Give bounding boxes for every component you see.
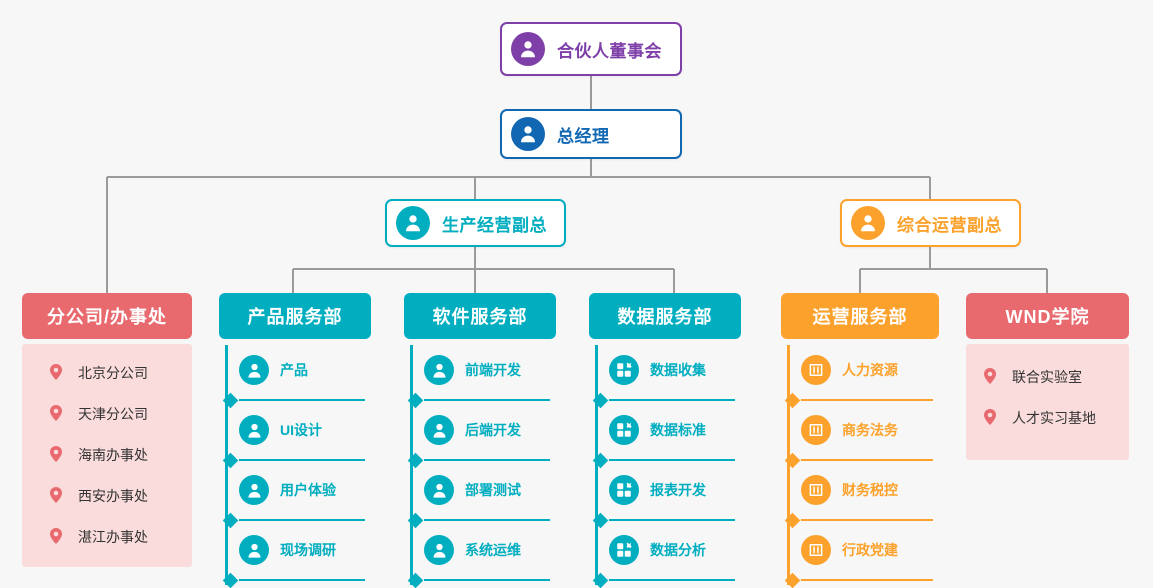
list-item[interactable]: 后端开发: [418, 405, 556, 455]
list-item-label: 商务法务: [842, 420, 898, 440]
map-pin-icon: [48, 446, 64, 464]
exec-node-board[interactable]: 合伙人董事会: [500, 22, 682, 76]
department-title[interactable]: 产品服务部: [219, 293, 371, 339]
person-icon: [239, 475, 269, 505]
org-chart: 合伙人董事会 总经理 生产经营副总 综合运营副总 分公: [0, 0, 1153, 587]
item-divider: [787, 575, 939, 585]
item-divider: [225, 515, 371, 525]
list-item[interactable]: 联合实验室: [966, 356, 1129, 397]
list-item[interactable]: 北京分公司: [22, 352, 192, 393]
bank-icon: [801, 355, 831, 385]
bank-icon: [801, 415, 831, 445]
person-icon: [424, 415, 454, 445]
list-item-label: 系统运维: [465, 540, 521, 560]
item-divider: [595, 515, 741, 525]
list-item[interactable]: 数据分析: [603, 525, 741, 575]
list-item[interactable]: 数据收集: [603, 345, 741, 395]
item-divider: [787, 395, 939, 405]
list-item-label: 行政党建: [842, 540, 898, 560]
list-item-label: 数据收集: [650, 360, 706, 380]
list-item-label: 前端开发: [465, 360, 521, 380]
department-item-list: 联合实验室 人才实习基地: [966, 344, 1129, 460]
department-product: 产品服务部 产品 UI设计: [219, 293, 371, 585]
list-item[interactable]: 数据标准: [603, 405, 741, 455]
department-title[interactable]: 运营服务部: [781, 293, 939, 339]
person-icon: [511, 32, 545, 66]
department-item-list: 北京分公司 天津分公司 海南办事处: [22, 344, 192, 567]
item-divider: [595, 395, 741, 405]
map-pin-icon: [48, 364, 64, 382]
list-item-label: 人力资源: [842, 360, 898, 380]
list-item-label: UI设计: [280, 420, 322, 440]
department-item-list: 人力资源 商务法务: [781, 345, 939, 585]
person-icon: [239, 355, 269, 385]
list-item-label: 部署测试: [465, 480, 521, 500]
grid-icon: [609, 355, 639, 385]
department-item-list: 数据收集 数据标准: [589, 345, 741, 585]
list-item[interactable]: 行政党建: [795, 525, 939, 575]
map-pin-icon: [48, 487, 64, 505]
list-item[interactable]: 人力资源: [795, 345, 939, 395]
item-divider: [225, 455, 371, 465]
list-item-label: 现场调研: [280, 540, 336, 560]
list-item-label: 海南办事处: [78, 445, 148, 465]
exec-node-vp-operations[interactable]: 综合运营副总: [840, 199, 1021, 247]
item-divider: [787, 455, 939, 465]
list-item[interactable]: 人才实习基地: [966, 397, 1129, 438]
department-item-list: 产品 UI设计 用户体验: [219, 345, 371, 585]
department-item-list: 前端开发 后端开发 部署测试: [404, 345, 556, 585]
item-divider: [410, 455, 556, 465]
list-item[interactable]: 天津分公司: [22, 393, 192, 434]
department-operations: 运营服务部 人力资源: [781, 293, 939, 585]
person-icon: [239, 535, 269, 565]
item-divider: [225, 575, 371, 585]
list-item[interactable]: 报表开发: [603, 465, 741, 515]
bank-icon: [801, 535, 831, 565]
list-item[interactable]: 商务法务: [795, 405, 939, 455]
item-divider: [595, 455, 741, 465]
department-software: 软件服务部 前端开发 后端开发: [404, 293, 556, 585]
department-title[interactable]: 数据服务部: [589, 293, 741, 339]
list-item-label: 报表开发: [650, 480, 706, 500]
grid-icon: [609, 535, 639, 565]
exec-label: 生产经营副总: [442, 211, 547, 236]
list-item-label: 用户体验: [280, 480, 336, 500]
bank-icon: [801, 475, 831, 505]
person-icon: [851, 206, 885, 240]
exec-node-general-manager[interactable]: 总经理: [500, 109, 682, 159]
grid-icon: [609, 475, 639, 505]
department-title[interactable]: 分公司/办事处: [22, 293, 192, 339]
list-item[interactable]: 湛江办事处: [22, 516, 192, 557]
list-item-label: 产品: [280, 360, 308, 380]
map-pin-icon: [48, 405, 64, 423]
list-item[interactable]: 财务税控: [795, 465, 939, 515]
map-pin-icon: [48, 528, 64, 546]
list-item[interactable]: 部署测试: [418, 465, 556, 515]
list-item-label: 数据标准: [650, 420, 706, 440]
exec-label: 总经理: [557, 122, 610, 147]
map-pin-icon: [982, 368, 998, 386]
person-icon: [396, 206, 430, 240]
exec-label: 综合运营副总: [897, 211, 1002, 236]
exec-label: 合伙人董事会: [557, 37, 662, 62]
person-icon: [511, 117, 545, 151]
list-item-label: 财务税控: [842, 480, 898, 500]
department-title[interactable]: WND学院: [966, 293, 1129, 339]
list-item-label: 人才实习基地: [1012, 408, 1096, 428]
exec-node-vp-production[interactable]: 生产经营副总: [385, 199, 566, 247]
department-title[interactable]: 软件服务部: [404, 293, 556, 339]
department-branches: 分公司/办事处 北京分公司 天津分公司: [22, 293, 192, 567]
list-item[interactable]: 海南办事处: [22, 434, 192, 475]
list-item[interactable]: 产品: [233, 345, 371, 395]
list-item[interactable]: 系统运维: [418, 525, 556, 575]
department-data: 数据服务部 数据收集: [589, 293, 741, 585]
list-item-label: 北京分公司: [78, 363, 148, 383]
item-divider: [410, 515, 556, 525]
item-divider: [787, 515, 939, 525]
item-divider: [225, 395, 371, 405]
list-item-label: 数据分析: [650, 540, 706, 560]
list-item[interactable]: 现场调研: [233, 525, 371, 575]
grid-icon: [609, 415, 639, 445]
list-item-label: 湛江办事处: [78, 527, 148, 547]
list-item[interactable]: 用户体验: [233, 465, 371, 515]
list-item[interactable]: 西安办事处: [22, 475, 192, 516]
map-pin-icon: [982, 409, 998, 427]
person-icon: [424, 475, 454, 505]
person-icon: [424, 535, 454, 565]
person-icon: [239, 415, 269, 445]
list-item-label: 天津分公司: [78, 404, 148, 424]
item-divider: [410, 395, 556, 405]
list-item-label: 后端开发: [465, 420, 521, 440]
person-icon: [424, 355, 454, 385]
department-academy: WND学院 联合实验室 人才实习基地: [966, 293, 1129, 460]
list-item-label: 西安办事处: [78, 486, 148, 506]
list-item[interactable]: UI设计: [233, 405, 371, 455]
item-divider: [410, 575, 556, 585]
list-item-label: 联合实验室: [1012, 367, 1082, 387]
item-divider: [595, 575, 741, 585]
list-item[interactable]: 前端开发: [418, 345, 556, 395]
